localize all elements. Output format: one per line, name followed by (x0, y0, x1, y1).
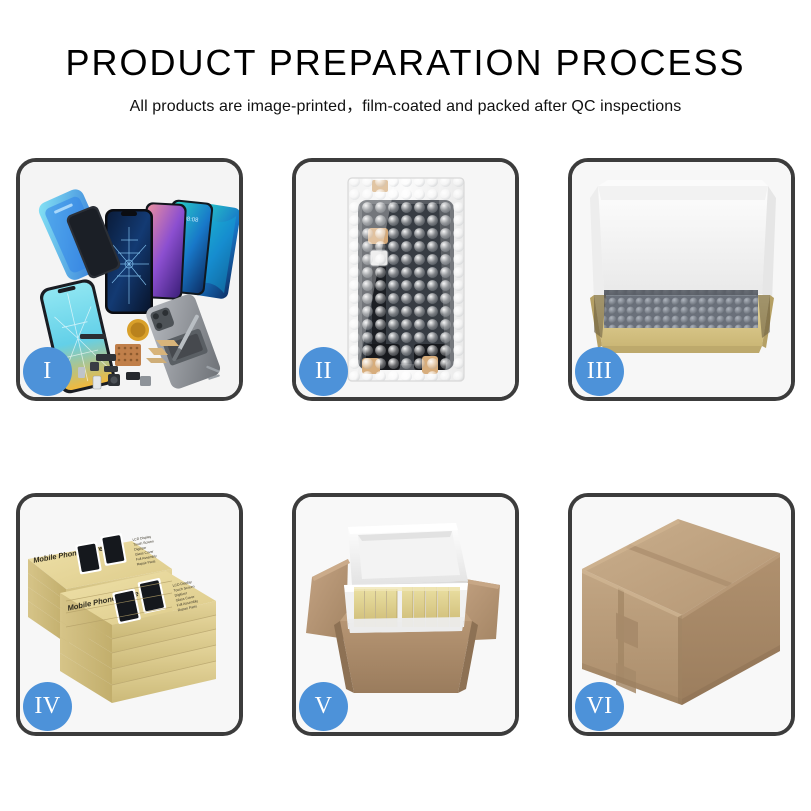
page-subtitle: All products are image-printed，film-coat… (0, 83, 811, 116)
step-badge-6: VI (575, 682, 624, 731)
step-panel-5[interactable]: V (292, 493, 519, 736)
step-badge-2: II (299, 347, 348, 396)
step-panel-1[interactable]: 08:08 (16, 158, 243, 401)
step-panel-6[interactable]: VI (568, 493, 795, 736)
step-panel-3[interactable]: III (568, 158, 795, 401)
step-badge-3: III (575, 347, 624, 396)
step-panel-4[interactable]: Mobile Phone Spare Parts LCD Display Tou… (16, 493, 243, 736)
header: PRODUCT PREPARATION PROCESS All products… (0, 0, 811, 116)
page-title: PRODUCT PREPARATION PROCESS (0, 0, 811, 83)
step-badge-4: IV (23, 682, 72, 731)
step-badge-1: I (23, 347, 72, 396)
process-steps-grid: 08:08 (16, 158, 795, 736)
step-panel-2[interactable]: II (292, 158, 519, 401)
step-badge-5: V (299, 682, 348, 731)
